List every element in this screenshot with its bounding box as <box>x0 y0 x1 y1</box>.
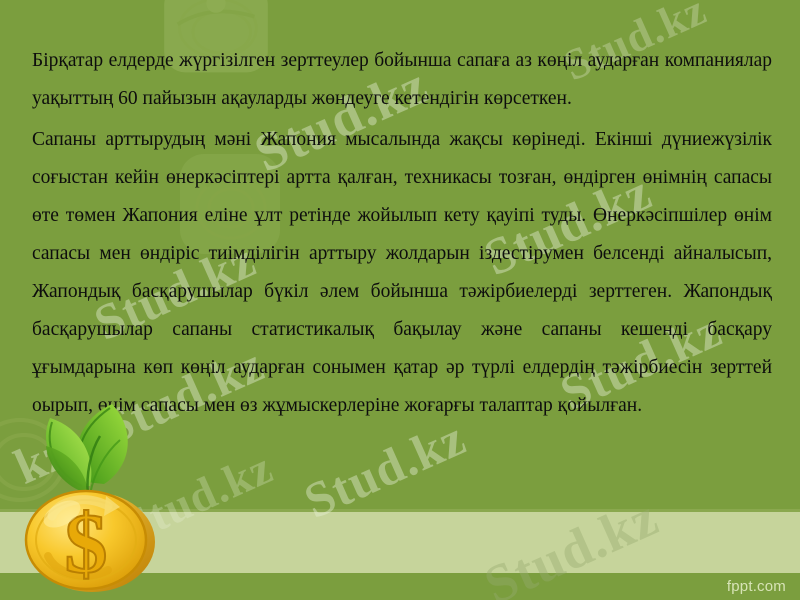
footer-brand-fppt: fppt.com <box>727 578 786 595</box>
footer-band <box>0 573 800 600</box>
bottom-light-band <box>0 512 800 573</box>
slide-canvas: Stud.kz Stud.kz Stud.kz Stud.kz Stud.kz … <box>0 0 800 600</box>
paragraph-2: Сапаны арттырудың мәні Жапония мысалында… <box>32 121 772 425</box>
paragraph-1: Бірқатар елдерде жүргізілген зерттеулер … <box>32 42 772 118</box>
slide-body-text: Бірқатар елдерде жүргізілген зерттеулер … <box>32 42 772 425</box>
